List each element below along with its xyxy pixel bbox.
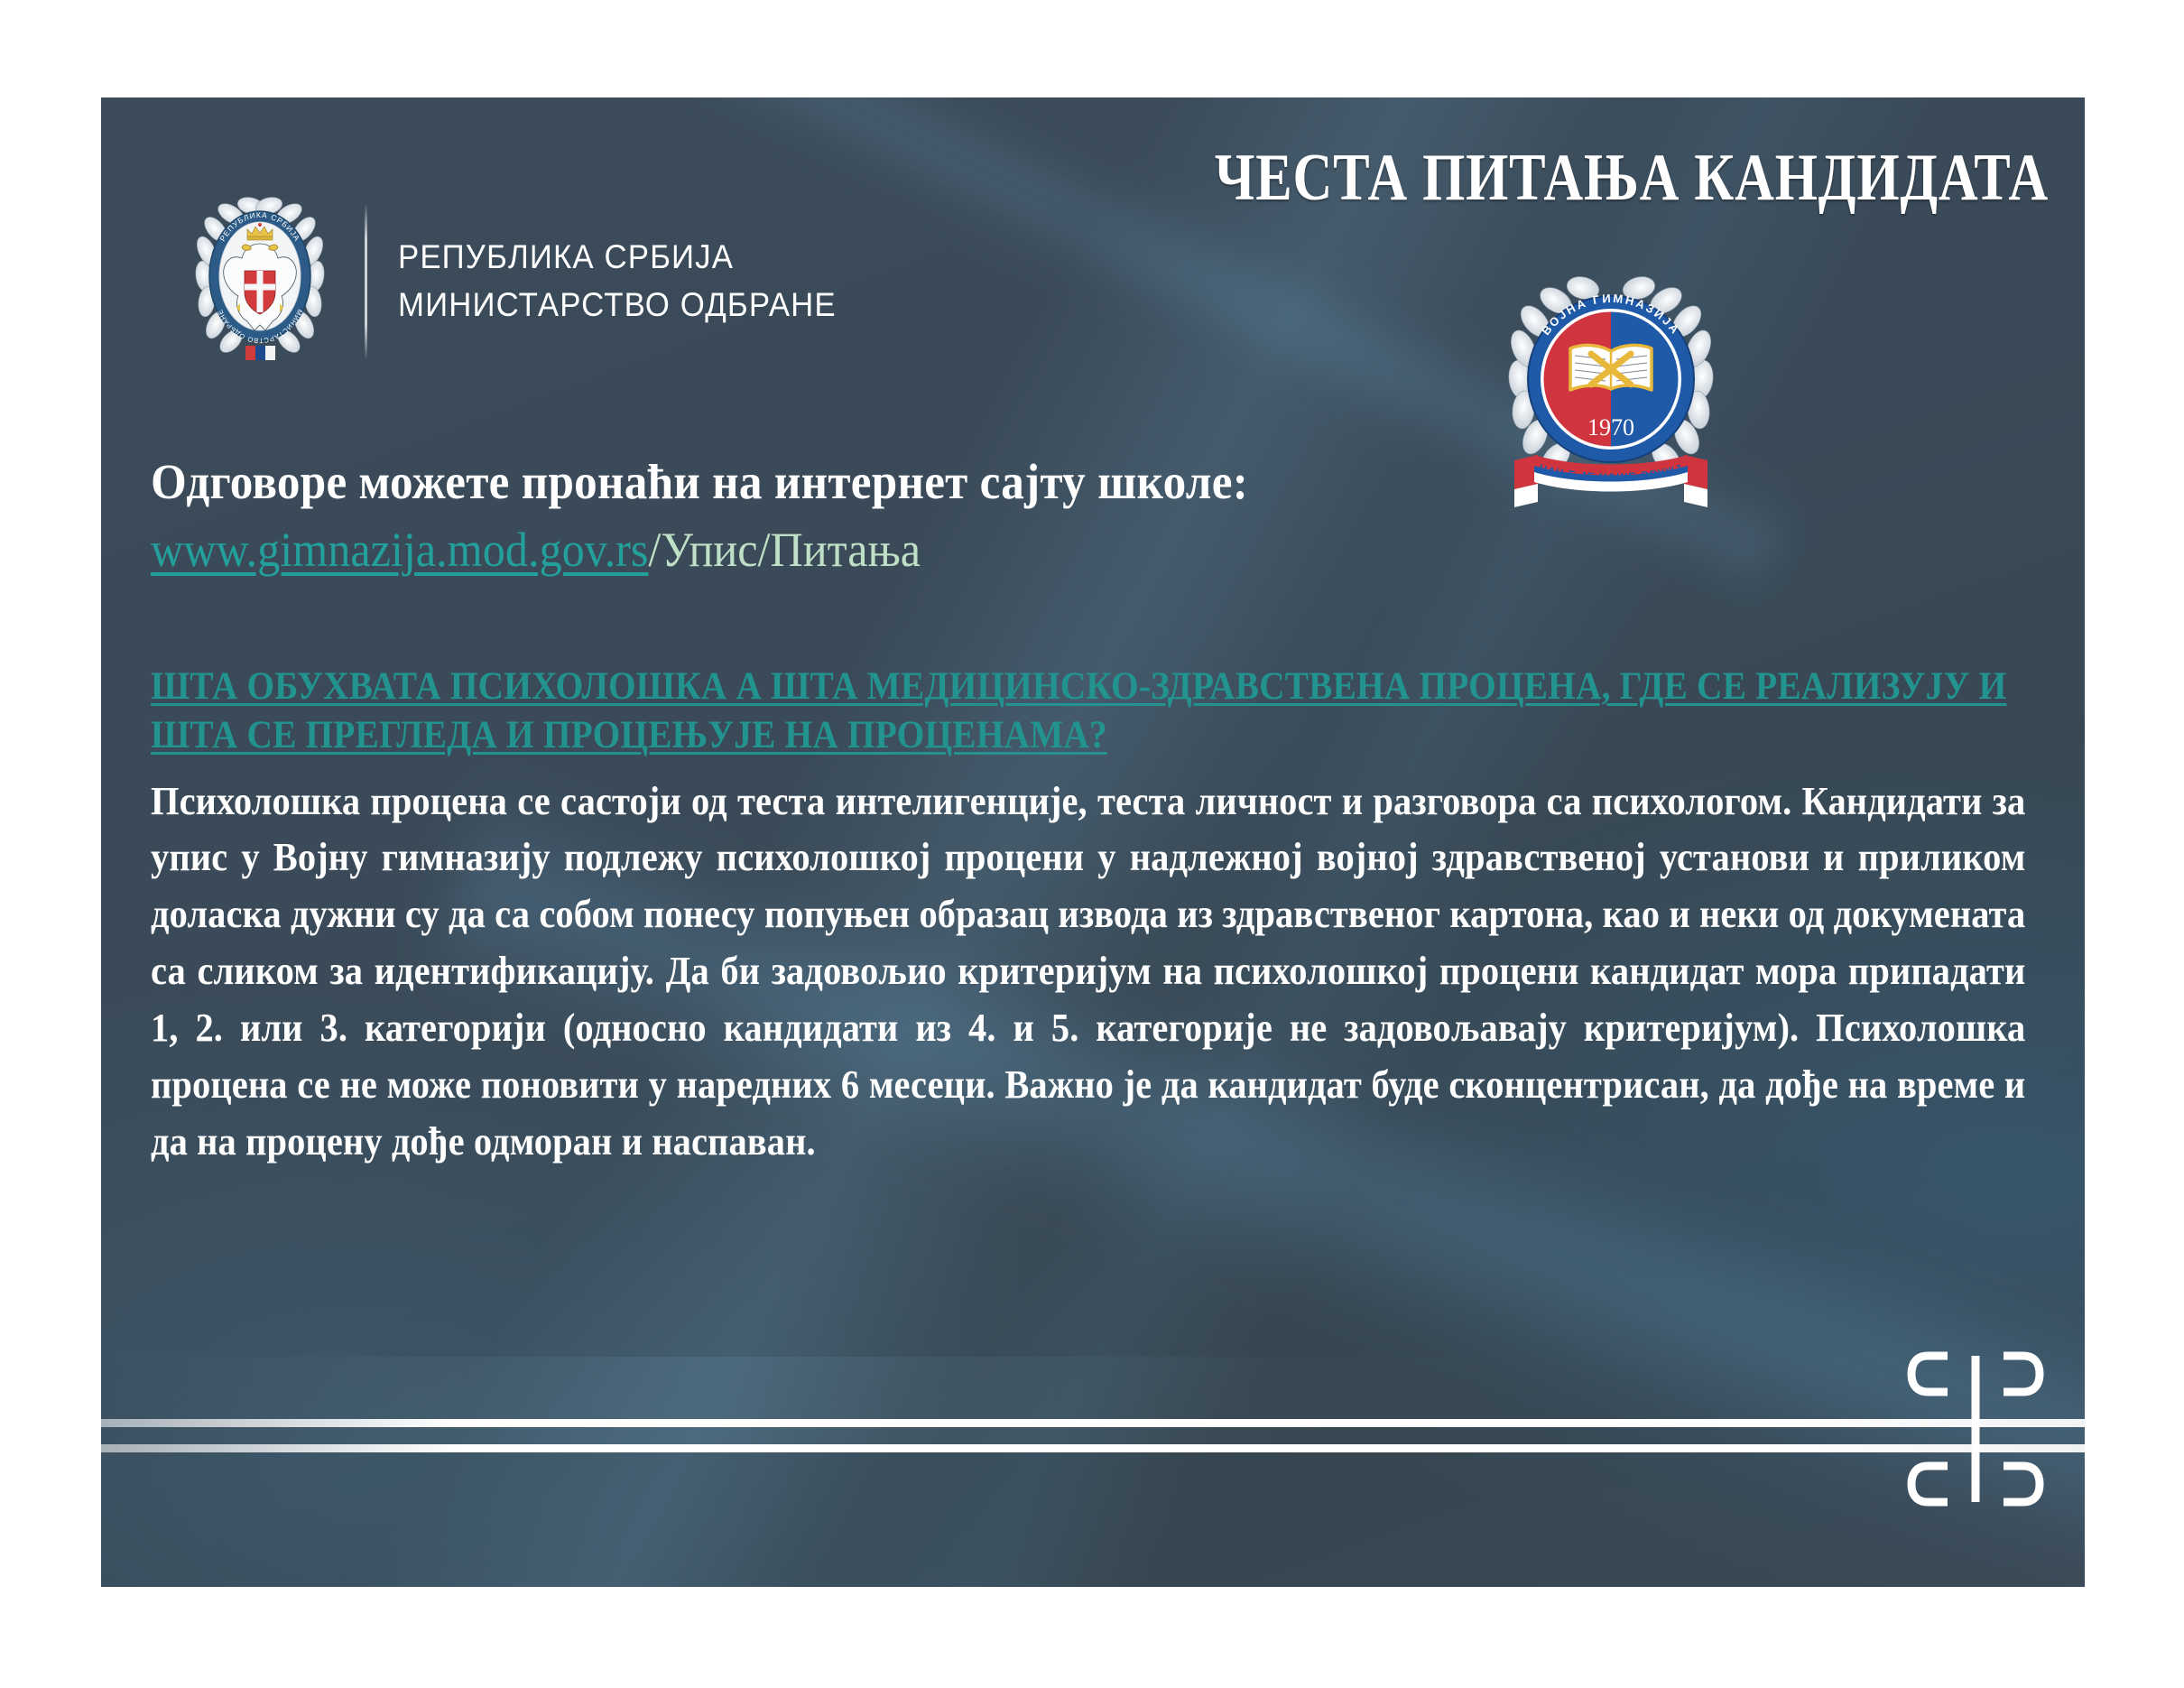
- website-line: www.gimnazija.mod.gov.rs/Упис/Питања: [151, 523, 1895, 577]
- faq-answer-paragraph: Психолошка процена се састоји од теста и…: [151, 774, 2025, 1171]
- footer-rule-bottom: [101, 1444, 2085, 1452]
- ministry-line-1: РЕПУБЛИКА СРБИЈА: [398, 234, 837, 282]
- svg-text:С: С: [249, 294, 254, 301]
- serbian-cross-ornament-icon: [1881, 1343, 2070, 1515]
- emblem-year: 1970: [1587, 414, 1634, 441]
- ministry-name-block: РЕПУБЛИКА СРБИЈА МИНИСТАРСТВО ОДБРАНЕ: [398, 234, 837, 329]
- slide-title: ЧЕСТА ПИТАЊА КАНДИДАТА: [1215, 144, 2049, 211]
- footer-rules: [101, 1406, 2085, 1461]
- svg-text:С: С: [267, 294, 272, 301]
- ministry-of-defense-emblem-icon: РЕПУБЛИКА СРБИЈА МИНИСТАРСТВО ОДБРАНЕ: [191, 197, 329, 366]
- ministry-line-2: МИНИСТАРСТВО ОДБРАНЕ: [398, 282, 837, 329]
- svg-text:С: С: [267, 275, 272, 283]
- svg-text:С: С: [249, 275, 254, 283]
- presentation-slide: ЧЕСТА ПИТАЊА КАНДИДАТА: [101, 97, 2085, 1587]
- intro-text: Одговоре можете пронаћи на интернет сајт…: [151, 454, 1895, 511]
- website-path: /Упис/Питања: [648, 523, 921, 577]
- footer-rule-top: [101, 1419, 2085, 1427]
- ministry-of-defense-lockup: РЕПУБЛИКА СРБИЈА МИНИСТАРСТВО ОДБРАНЕ: [191, 197, 865, 366]
- lockup-divider: [365, 205, 367, 358]
- slide-content: Одговоре можете пронаћи на интернет сајт…: [151, 454, 2026, 1171]
- school-website-link[interactable]: www.gimnazija.mod.gov.rs: [151, 523, 648, 577]
- faq-question-heading: ШТА ОБУХВАТА ПСИХОЛОШКА А ШТА МЕДИЦИНСКО…: [151, 663, 2025, 760]
